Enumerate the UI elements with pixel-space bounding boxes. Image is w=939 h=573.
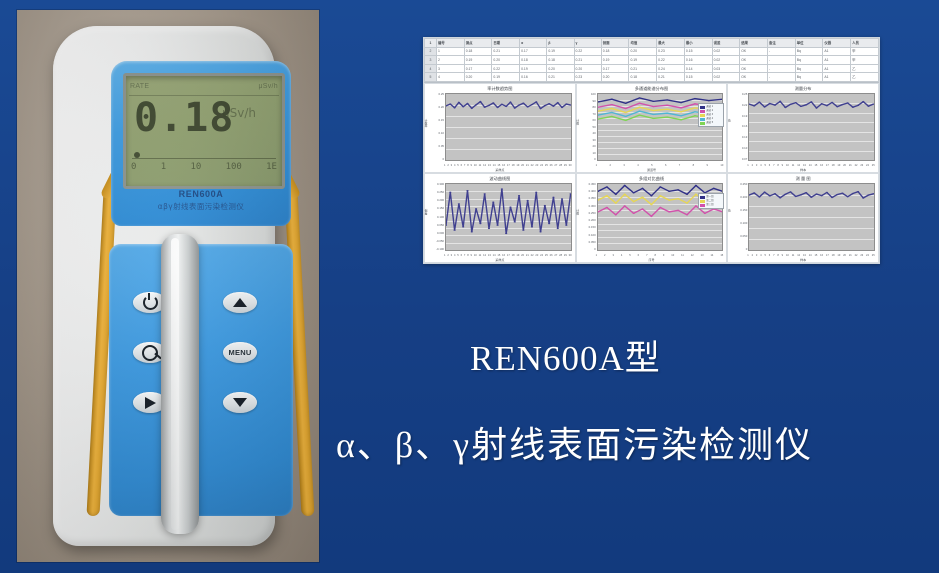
chart-xaxis-ticks: 12345678910 <box>596 164 724 167</box>
chart-ytick: 0.13 <box>731 136 747 139</box>
chart-xlabel: 样本 <box>728 168 878 172</box>
chart-data-point <box>795 196 797 197</box>
chart-data-point <box>638 103 640 104</box>
chart-xtick: 25 <box>872 164 875 167</box>
chart-legend-swatch <box>700 118 705 121</box>
spreadsheet-cell: 0.20 <box>601 73 629 82</box>
chart-data-point <box>666 117 668 118</box>
chart-xaxis-ticks: 1234567891011121314151617181920212223242… <box>444 254 572 257</box>
chart-data-point <box>614 214 616 215</box>
chart-ytick: 0.200 <box>731 196 747 199</box>
spreadsheet-cell: 0.03 <box>712 64 740 73</box>
magnifier-icon <box>142 345 158 361</box>
spreadsheet-cell: 乙 <box>851 73 879 82</box>
chart-yaxis-ticks: 0.4500.4000.3500.3000.2500.2000.1500.100… <box>580 183 597 251</box>
chart-legend-swatch <box>700 110 705 113</box>
spreadsheet-table: 1编号测点日期αβγ剖面均值最大最小误差结果备注单位仪器人员210.180.21… <box>424 38 879 82</box>
chart-data-point <box>857 191 859 192</box>
chart-data-point <box>666 109 668 110</box>
chart-xtick: 22 <box>855 164 858 167</box>
device-body: RATE μSv/h 0.18 uSv/h 0 1 10 100 1E <box>53 26 275 546</box>
chart-xtick: 2 <box>604 254 605 257</box>
chart-data-point <box>652 114 654 115</box>
spreadsheet-area: 1编号测点日期αβγ剖面均值最大最小误差结果备注单位仪器人员210.180.21… <box>424 38 879 83</box>
spreadsheet-cell: 0.23 <box>657 47 685 56</box>
chart-data-point <box>831 102 833 103</box>
chart-legend-swatch <box>700 114 705 117</box>
lcd-scale-1: 1 <box>161 162 166 172</box>
chart-xtick: 14 <box>493 254 496 257</box>
chart-xtick: 11 <box>479 164 482 167</box>
lcd-unit-top-label: μSv/h <box>258 83 278 90</box>
spreadsheet-cell: OK <box>740 73 768 82</box>
chart-xtick: 25 <box>545 254 548 257</box>
chart-data-point <box>652 118 654 119</box>
chart-data-point <box>479 101 481 102</box>
chart-data-point <box>693 115 695 116</box>
spreadsheet-cell: 0.22 <box>492 64 520 73</box>
chart-data-point <box>605 186 607 187</box>
spreadsheet-cell: 0.20 <box>547 64 574 73</box>
spreadsheet-cell: OK <box>740 56 768 65</box>
chart-data-point <box>659 195 661 196</box>
chart-title: 波动曲线图 <box>428 176 572 183</box>
chart-ytick: 0.300 <box>580 205 596 208</box>
chart-xtick: 24 <box>540 254 543 257</box>
chart-data-point <box>847 102 849 103</box>
chart-data-point <box>842 193 844 194</box>
chart-data-point <box>641 197 643 198</box>
chart-ytick: 30 <box>580 139 596 142</box>
chart-xlabel: 采样点 <box>425 258 575 262</box>
chart-data-point <box>548 223 550 224</box>
chart-ytick: 0 <box>731 248 747 251</box>
chart-ytick: 0.10 <box>428 132 444 135</box>
chart-data-point <box>686 214 688 215</box>
chart-data-point <box>531 104 533 105</box>
chart-data-point <box>666 99 668 100</box>
chart-yaxis-ticks: 0.2500.2000.1500.1000.0500 <box>731 183 748 251</box>
spreadsheet-cell: A1 <box>823 56 851 65</box>
spreadsheet-cell: - <box>767 64 795 73</box>
chart-xtick: 2 <box>447 164 448 167</box>
chart-plot <box>748 93 875 161</box>
spreadsheet-cell: Bq <box>795 56 823 65</box>
spreadsheet-row-header: 5 <box>425 73 437 82</box>
slide-root: RATE μSv/h 0.18 uSv/h 0 1 10 100 1E <box>0 0 939 573</box>
chart-data-point <box>449 103 451 104</box>
chart-data-point <box>539 231 541 232</box>
chart-data-point <box>868 194 870 195</box>
chart-data-point <box>868 106 870 107</box>
chart-xtick: 14 <box>710 254 713 257</box>
lcd-reading-unit: uSv/h <box>222 106 256 120</box>
chart-xtick: 15 <box>497 254 500 257</box>
spreadsheet-cell: - <box>767 47 795 56</box>
chart-data-point <box>668 191 670 192</box>
chart-data-point <box>623 185 625 186</box>
chart-xtick: 15 <box>814 164 817 167</box>
chart-data-point <box>638 97 640 98</box>
spreadsheet-cell: 最小 <box>684 39 712 48</box>
chart-xtick: 6 <box>638 254 639 257</box>
lcd-scale-1e: 1E <box>266 162 277 172</box>
chart-data-point <box>501 188 503 189</box>
chart-data-point <box>800 194 802 195</box>
device-model-sub-label: αβγ射线表面污染检测仪 <box>111 201 291 212</box>
chart-data-point <box>666 105 668 106</box>
play-icon <box>145 397 156 409</box>
chart-data-point <box>816 193 818 194</box>
chart-data-point <box>810 101 812 102</box>
chart-xtick: 19 <box>837 164 840 167</box>
chart-plot-area: 0.2500.2000.1500.1000.0500 <box>731 183 875 251</box>
spreadsheet-cell: A1 <box>823 47 851 56</box>
chart-data-point <box>449 192 451 193</box>
chart-xtick: 24 <box>866 254 869 257</box>
chart-data-point <box>496 225 498 226</box>
chart-xtick: 16 <box>820 164 823 167</box>
chart-xtick: 13 <box>803 254 806 257</box>
chart-data-point <box>836 106 838 107</box>
chart-xtick: 9 <box>471 254 472 257</box>
chart-xtick: 11 <box>792 254 795 257</box>
spreadsheet-cell: 0.14 <box>684 64 712 73</box>
lcd-scale-labels: 0 1 10 100 1E <box>131 162 277 172</box>
device-top-face: RATE μSv/h 0.18 uSv/h 0 1 10 100 1E <box>111 61 291 226</box>
chart-xtick: 12 <box>797 164 800 167</box>
chart-xtick: 4 <box>454 164 455 167</box>
chart-data-point <box>475 104 477 105</box>
chart-xtick: 7 <box>679 164 680 167</box>
chart-data-point <box>666 113 668 114</box>
chart-data-point <box>693 107 695 108</box>
chart-data-point <box>810 197 812 198</box>
lcd-scale-100: 100 <box>226 162 242 172</box>
chart-xtick: 6 <box>461 254 462 257</box>
chart-xtick: 3 <box>612 254 613 257</box>
spreadsheet-cell: 0.22 <box>657 56 685 65</box>
chart-data-point <box>693 98 695 99</box>
chart-xlabel: 采样点 <box>425 168 575 172</box>
chart-xtick: 25 <box>872 254 875 257</box>
chart-xaxis-ticks: 1234567891011121314151617181920212223242… <box>747 164 875 167</box>
spreadsheet-cell: 0.24 <box>657 64 685 73</box>
chart-xtick: 3 <box>451 164 452 167</box>
chart-xtick: 9 <box>663 254 664 257</box>
chart-data-point <box>680 115 682 116</box>
spreadsheet-row-header: 3 <box>425 56 437 65</box>
chart-xtick: 28 <box>559 254 562 257</box>
chart-xtick: 23 <box>860 164 863 167</box>
chart-xtick: 6 <box>769 254 770 257</box>
chart-data-point <box>624 108 626 109</box>
chart-data-point <box>821 103 823 104</box>
chart-data-point <box>638 115 640 116</box>
chart-ytick: -0.050 <box>428 240 444 243</box>
chart-data-point <box>552 106 554 107</box>
chart-data-point <box>779 197 781 198</box>
chart-data-point <box>632 192 634 193</box>
chart-xtick: 9 <box>471 164 472 167</box>
chart-ytick: 0.100 <box>580 234 596 237</box>
chart-data-point <box>475 208 477 209</box>
triangle-up-icon <box>233 298 247 307</box>
chart-xtick: 11 <box>681 254 684 257</box>
chart-data-point <box>826 105 828 106</box>
chart-xtick: 7 <box>773 254 774 257</box>
chart-data-point <box>462 226 464 227</box>
chart-data-point <box>557 228 559 229</box>
chart-xtick: 30 <box>569 164 572 167</box>
chart-plot <box>445 183 572 251</box>
chart-xtick: 5 <box>457 164 458 167</box>
chart-ytick: 0.450 <box>580 183 596 186</box>
chart-data-point <box>624 103 626 104</box>
caption-description-line: α、β、γ射线表面污染检测仪 <box>336 416 936 468</box>
spreadsheet-cell: 单位 <box>795 39 823 48</box>
spreadsheet-cell: 最大 <box>657 39 685 48</box>
strap-highlight <box>171 238 179 530</box>
chart-xtick: 9 <box>782 254 783 257</box>
chart-title: 测量分布 <box>731 86 875 93</box>
menu-key[interactable]: MENU <box>223 342 257 363</box>
spreadsheet-cell: 仪器 <box>823 39 851 48</box>
device-keypad-face: MENU ················ <box>109 244 293 516</box>
chart-series-svg <box>446 184 571 250</box>
chart-data-point <box>471 108 473 109</box>
chart-data-point <box>453 230 455 231</box>
chart-xtick: 17 <box>826 254 829 257</box>
chart-ytick: 0.19 <box>731 115 747 118</box>
chart-xtick: 26 <box>550 254 553 257</box>
chart-data-point <box>466 190 468 191</box>
chart-data-point <box>484 193 486 194</box>
chart-xtick: 20 <box>843 254 846 257</box>
chart-ytick: -0.100 <box>428 248 444 251</box>
chart-xtick: 27 <box>554 254 557 257</box>
chart-xtick: 12 <box>483 164 486 167</box>
chart-xtick: 11 <box>479 254 482 257</box>
chart-xtick: 1 <box>747 254 748 257</box>
chart-xtick: 8 <box>654 254 655 257</box>
spreadsheet-cell: 甲 <box>851 56 879 65</box>
up-key[interactable] <box>223 292 257 313</box>
chart-data-point <box>852 107 854 108</box>
chart-xtick: 15 <box>814 254 817 257</box>
chart-data-point <box>531 226 533 227</box>
chart-xtick: 22 <box>531 254 534 257</box>
chart-data-point <box>680 107 682 108</box>
chart-xtick: 10 <box>786 164 789 167</box>
chart-legend-swatch <box>700 200 705 203</box>
chart-data-point <box>509 102 511 103</box>
chart-xaxis-ticks: 1234567891011121314151617181920212223242… <box>747 254 875 257</box>
chart-data-point <box>514 107 516 108</box>
spreadsheet-cell: 0.19 <box>492 73 520 82</box>
chart-data-point <box>548 103 550 104</box>
chart-data-point <box>659 207 661 208</box>
chart-data-point <box>693 103 695 104</box>
chart-xtick: 18 <box>512 254 515 257</box>
chart-xtick: 21 <box>526 254 529 257</box>
chart-data-point <box>686 194 688 195</box>
chart-data-point <box>712 188 714 189</box>
spreadsheet-cell: 甲 <box>851 47 879 56</box>
chart-xlabel: 序号 <box>577 258 727 262</box>
chart-data-point <box>518 195 520 196</box>
chart-ytick: 0.050 <box>428 224 444 227</box>
chart-data-point <box>623 205 625 206</box>
chart-data-point <box>677 198 679 199</box>
chart-data-point <box>680 102 682 103</box>
chart-xtick: 20 <box>521 164 524 167</box>
triangle-down-icon <box>233 398 247 407</box>
chart-data-point <box>509 207 511 208</box>
chart-xtick: 12 <box>483 254 486 257</box>
chart-ytick: 0 <box>580 158 596 161</box>
chart-xtick: 7 <box>464 164 465 167</box>
chart-xtick: 12 <box>797 254 800 257</box>
spreadsheet-cell: 0.21 <box>629 64 657 73</box>
chart-legend-swatch <box>700 204 705 207</box>
chart-data-point <box>638 107 640 108</box>
chart-data-point <box>694 194 696 195</box>
chart-data-point <box>522 103 524 104</box>
chart-data-point <box>764 106 766 107</box>
chart-data-point <box>686 202 688 203</box>
chart-data-point <box>805 104 807 105</box>
chart-xtick: 3 <box>756 254 757 257</box>
chart-xtick: 22 <box>531 164 534 167</box>
chart-xtick: 18 <box>512 164 515 167</box>
chart-data-point <box>659 186 661 187</box>
chart-xtick: 10 <box>474 254 477 257</box>
chart-data-point <box>527 200 529 201</box>
spreadsheet-cell: 0.20 <box>464 73 492 82</box>
chart-ytick: 0.25 <box>731 93 747 96</box>
spreadsheet-cell: 0.23 <box>574 73 601 82</box>
chart-xtick: 23 <box>535 254 538 257</box>
spreadsheet-row-header: 2 <box>425 47 437 56</box>
chart-xtick: 16 <box>820 254 823 257</box>
chart-data-point <box>694 205 696 206</box>
chart-series-svg <box>749 94 874 160</box>
chart-data-point <box>614 194 616 195</box>
spreadsheet-cell: A1 <box>823 73 851 82</box>
chart-ytick: 0.15 <box>428 119 444 122</box>
chart-xlabel: 通道号 <box>577 168 727 172</box>
lcd-bargraph <box>132 152 276 159</box>
chart-data-point <box>857 105 859 106</box>
chart-xtick: 10 <box>671 254 674 257</box>
chart-data-point <box>805 192 807 193</box>
spreadsheet-cell: 0.19 <box>629 56 657 65</box>
spreadsheet-cell: 0.20 <box>574 64 601 73</box>
chart-data-point <box>632 213 634 214</box>
spreadsheet-cell: 0.19 <box>520 64 547 73</box>
spreadsheet-row-header: 4 <box>425 64 437 73</box>
chart-plot <box>445 93 572 161</box>
chart-ytick: 0.100 <box>731 222 747 225</box>
lcd-mode-label: RATE <box>130 83 149 90</box>
chart-ytick: 0.22 <box>731 104 747 107</box>
chart-data-point <box>527 106 529 107</box>
spreadsheet-cell: 0.20 <box>492 56 520 65</box>
chart-xtick: 1 <box>596 164 597 167</box>
chart-xtick: 7 <box>646 254 647 257</box>
chart-ytick: 0.400 <box>580 190 596 193</box>
spreadsheet-cell: α <box>520 39 547 48</box>
chart-ytick: 100 <box>580 93 596 96</box>
chart-ytick: 60 <box>580 119 596 122</box>
spreadsheet-cell: 测点 <box>464 39 492 48</box>
chart-xtick: 4 <box>760 164 761 167</box>
chart-data-point <box>785 194 787 195</box>
spreadsheet-cell: 均值 <box>629 39 657 48</box>
chart-data-point <box>557 102 559 103</box>
chart-plot <box>748 183 875 251</box>
chart-xtick: 14 <box>809 164 812 167</box>
chart-series-svg <box>446 94 571 160</box>
chart-xtick: 1 <box>444 254 445 257</box>
down-key[interactable] <box>223 392 257 413</box>
chart-data-point <box>624 112 626 113</box>
chart-title: 多通道能谱分布图 <box>580 86 724 93</box>
chart-data-point <box>650 216 652 217</box>
chart-xtick: 17 <box>507 254 510 257</box>
chart-xaxis-ticks: 1234567891011121314151617181920212223242… <box>444 164 572 167</box>
chart-data-point <box>707 100 709 101</box>
chart-data-point <box>514 221 516 222</box>
chart-xtick: 21 <box>849 254 852 257</box>
chart-data-point <box>605 195 607 196</box>
chart-xtick: 14 <box>809 254 812 257</box>
chart-data-point <box>471 231 473 232</box>
chart-xtick: 16 <box>502 164 505 167</box>
chart-data-point <box>774 193 776 194</box>
chart-data-point <box>790 191 792 192</box>
chart-legend-label: 通道 5 <box>706 121 713 125</box>
chart-xtick: 19 <box>516 254 519 257</box>
chart-xtick: 6 <box>665 164 666 167</box>
lcd-screen: RATE μSv/h 0.18 uSv/h 0 1 10 100 1E <box>123 73 285 189</box>
chart-ytick: 50 <box>580 126 596 129</box>
chart-data-point <box>561 198 563 199</box>
chart-ytick: 0.250 <box>428 191 444 194</box>
chart-data-point <box>505 106 507 107</box>
chart-xtick: 21 <box>849 164 852 167</box>
chart-legend: 第一组第二组第三组 <box>698 193 724 209</box>
chart-data-point <box>836 194 838 195</box>
chart-ytick: 90 <box>580 100 596 103</box>
spreadsheet-cell: 0.21 <box>547 73 574 82</box>
chart-data-point <box>800 106 802 107</box>
chart-plot-area: 0.3000.2500.2000.1500.1000.0500.000-0.05… <box>428 183 572 251</box>
chart-xtick: 8 <box>693 164 694 167</box>
spreadsheet-cell: 4 <box>437 73 465 82</box>
spreadsheet-cell: 0.15 <box>684 47 712 56</box>
chart-title: 率计数趋势图 <box>428 86 572 93</box>
chart-card: 率计数趋势图计数率0.250.200.150.100.0501234567891… <box>424 83 576 173</box>
chart-data-point <box>785 107 787 108</box>
spreadsheet-cell: 0.18 <box>547 56 574 65</box>
chart-xtick: 23 <box>535 164 538 167</box>
chart-xtick: 23 <box>860 254 863 257</box>
spreadsheet-cell: OK <box>740 47 768 56</box>
charts-grid: 率计数趋势图计数率0.250.200.150.100.0501234567891… <box>424 83 879 263</box>
chart-xtick: 19 <box>837 254 840 257</box>
